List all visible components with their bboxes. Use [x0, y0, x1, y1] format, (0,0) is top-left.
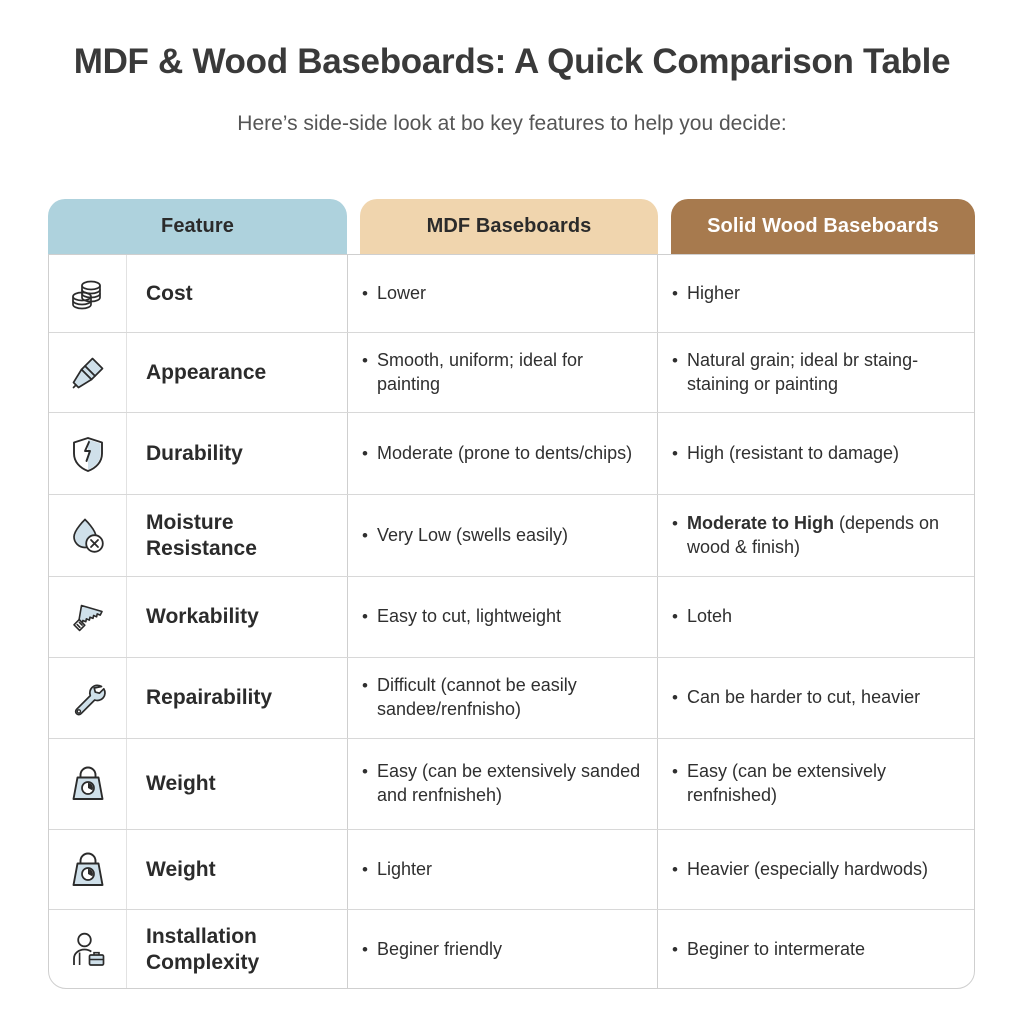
feature-name-cell: Cost — [127, 255, 348, 332]
bullet-item: • High (resistant to damage) — [672, 442, 899, 466]
bullet-item: • Can be harder to cut, heavier — [672, 686, 920, 710]
mdf-value-cell: • Lower — [348, 255, 658, 332]
bullet-glyph: • — [672, 349, 678, 372]
bullet-glyph: • — [362, 349, 368, 372]
wood-value-cell: • Higher — [658, 255, 974, 332]
bullet-item: • Heavier (especially hardwods) — [672, 858, 928, 882]
wood-value-cell: • Loteh — [658, 577, 974, 657]
bullet-text: Smooth, uniform; ideal for painting — [377, 349, 643, 397]
feature-label: Weight — [146, 771, 216, 797]
shield-crack-icon — [68, 434, 108, 474]
bullet-item: • Loteh — [672, 605, 732, 629]
bullet-glyph: • — [362, 282, 368, 305]
row-icon-cell — [49, 577, 127, 657]
bullet-text: Loteh — [687, 605, 732, 629]
table-row: Weight • Easy (can be extensively sanded… — [49, 739, 974, 830]
weight-gauge-icon — [68, 764, 108, 804]
bullet-text: Easy to cut, lightweight — [377, 605, 561, 629]
column-header-mdf-label: MDF Baseboards — [427, 215, 592, 238]
mdf-value-cell: • Lighter — [348, 830, 658, 909]
mdf-value-cell: • Very Low (swells easily) — [348, 495, 658, 576]
bullet-glyph: • — [362, 938, 368, 961]
feature-name-cell: Moisture Resistance — [127, 495, 348, 576]
bullet-text: Very Low (swells easily) — [377, 524, 568, 548]
bullet-glyph: • — [672, 512, 678, 535]
bullet-item: • Difficult (cannot be easily sandeɐ/ren… — [362, 674, 643, 722]
table-row: Workability • Easy to cut, lightweight •… — [49, 577, 974, 658]
bullet-text: Higher — [687, 282, 740, 306]
feature-name-cell: Installation Complexity — [127, 910, 348, 989]
bullet-item: • Lower — [362, 282, 426, 306]
column-header-feature-label: Feature — [161, 215, 234, 238]
bullet-glyph: • — [672, 760, 678, 783]
feature-label: Cost — [146, 281, 193, 307]
bullet-text: Easy (can be extensively sanded and renf… — [377, 760, 643, 808]
bullet-glyph: • — [672, 282, 678, 305]
row-icon-cell — [49, 495, 127, 576]
bullet-item: • Easy to cut, lightweight — [362, 605, 561, 629]
bullet-item: • Beginer to intermerate — [672, 938, 865, 962]
bullet-text: Moderate (prone to dents/chips) — [377, 442, 632, 466]
row-icon-cell — [49, 658, 127, 738]
bullet-glyph: • — [362, 524, 368, 547]
bullet-glyph: • — [362, 760, 368, 783]
feature-label: Repairability — [146, 685, 272, 711]
table-body: Cost • Lower • Higher — [48, 254, 975, 989]
page-title: MDF & Wood Baseboards: A Quick Compariso… — [0, 42, 1024, 82]
feature-label: Appearance — [146, 360, 266, 386]
bullet-text: High (resistant to damage) — [687, 442, 899, 466]
feature-name-cell: Durability — [127, 413, 348, 494]
bullet-text: Heavier (especially hardwods) — [687, 858, 928, 882]
bullet-item: • Higher — [672, 282, 740, 306]
feature-name-cell: Appearance — [127, 333, 348, 412]
wood-value-cell: • Easy (can be extensively renfnished) — [658, 739, 974, 829]
wrench-icon — [68, 678, 108, 718]
mdf-value-cell: • Easy to cut, lightweight — [348, 577, 658, 657]
row-icon-cell — [49, 413, 127, 494]
feature-name-cell: Weight — [127, 830, 348, 909]
bullet-item: • Easy (can be extensively renfnished) — [672, 760, 960, 808]
feature-name-cell: Repairability — [127, 658, 348, 738]
comparison-table-page: MDF & Wood Baseboards: A Quick Compariso… — [0, 0, 1024, 1024]
bullet-text-emphasis: Moderate to High — [687, 513, 834, 533]
bullet-glyph: • — [362, 858, 368, 881]
bullet-glyph: • — [672, 686, 678, 709]
bullet-glyph: • — [672, 442, 678, 465]
wood-value-cell: • Can be harder to cut, heavier — [658, 658, 974, 738]
bullet-item: • Moderate to High (depends on wood & fi… — [672, 512, 960, 560]
bullet-text: Natural grain; ideal br staing- staining… — [687, 349, 960, 397]
table-row: Appearance • Smooth, uniform; ideal for … — [49, 333, 974, 413]
row-icon-cell — [49, 333, 127, 412]
bullet-glyph: • — [362, 605, 368, 628]
bullet-item: • Natural grain; ideal br staing- staini… — [672, 349, 960, 397]
mdf-value-cell: • Moderate (prone to dents/chips) — [348, 413, 658, 494]
feature-label: Moisture Resistance — [146, 510, 339, 561]
water-drop-no-icon — [68, 516, 108, 556]
bullet-text: Difficult (cannot be easily sandeɐ/renfn… — [377, 674, 643, 722]
column-header-wood-label: Solid Wood Baseboards — [707, 215, 939, 238]
feature-label: Workability — [146, 604, 259, 630]
wood-value-cell: • Natural grain; ideal br staing- staini… — [658, 333, 974, 412]
wood-value-cell: • High (resistant to damage) — [658, 413, 974, 494]
bullet-text: Easy (can be extensively renfnished) — [687, 760, 960, 808]
column-header-mdf: MDF Baseboards — [360, 199, 658, 254]
bullet-text: Moderate to High (depends on wood & fini… — [687, 512, 960, 560]
bullet-glyph: • — [672, 938, 678, 961]
table-row: Moisture Resistance • Very Low (swells e… — [49, 495, 974, 577]
installer-person-icon — [68, 930, 108, 970]
bullet-item: • Easy (can be extensively sanded and re… — [362, 760, 643, 808]
table-row: Weight • Lighter • Heavier (especially h… — [49, 830, 974, 910]
bullet-glyph: • — [362, 674, 368, 697]
row-icon-cell — [49, 739, 127, 829]
row-icon-cell — [49, 910, 127, 989]
table-row: Installation Complexity • Beginer friend… — [49, 910, 974, 989]
wood-value-cell: • Moderate to High (depends on wood & fi… — [658, 495, 974, 576]
bullet-text: Lighter — [377, 858, 432, 882]
bullet-text: Beginer friendly — [377, 938, 502, 962]
weight-gauge-icon — [68, 850, 108, 890]
bullet-glyph: • — [362, 442, 368, 465]
coins-icon — [68, 274, 108, 314]
page-subtitle: Here’s side-side look at bo key features… — [0, 112, 1024, 136]
feature-name-cell: Workability — [127, 577, 348, 657]
comparison-table: Feature MDF Baseboards Solid Wood Basebo… — [48, 199, 975, 989]
wood-value-cell: • Beginer to intermerate — [658, 910, 974, 989]
mdf-value-cell: • Smooth, uniform; ideal for painting — [348, 333, 658, 412]
table-row: Repairability • Difficult (cannot be eas… — [49, 658, 974, 739]
bullet-item: • Moderate (prone to dents/chips) — [362, 442, 632, 466]
mdf-value-cell: • Easy (can be extensively sanded and re… — [348, 739, 658, 829]
bullet-text: Beginer to intermerate — [687, 938, 865, 962]
bullet-text: Can be harder to cut, heavier — [687, 686, 920, 710]
bullet-item: • Lighter — [362, 858, 432, 882]
mdf-value-cell: • Difficult (cannot be easily sandeɐ/ren… — [348, 658, 658, 738]
bullet-text: Lower — [377, 282, 426, 306]
column-header-feature: Feature — [48, 199, 347, 254]
row-icon-cell — [49, 830, 127, 909]
paintbrush-icon — [68, 353, 108, 393]
handsaw-icon — [68, 597, 108, 637]
bullet-glyph: • — [672, 605, 678, 628]
feature-name-cell: Weight — [127, 739, 348, 829]
table-row: Durability • Moderate (prone to dents/ch… — [49, 413, 974, 495]
bullet-item: • Smooth, uniform; ideal for painting — [362, 349, 643, 397]
row-icon-cell — [49, 255, 127, 332]
bullet-glyph: • — [672, 858, 678, 881]
bullet-item: • Very Low (swells easily) — [362, 524, 568, 548]
table-header-row: Feature MDF Baseboards Solid Wood Basebo… — [48, 199, 975, 254]
feature-label: Durability — [146, 441, 243, 467]
feature-label: Weight — [146, 857, 216, 883]
feature-label: Installation Complexity — [146, 924, 339, 975]
table-row: Cost • Lower • Higher — [49, 255, 974, 333]
column-header-wood: Solid Wood Baseboards — [671, 199, 975, 254]
mdf-value-cell: • Beginer friendly — [348, 910, 658, 989]
wood-value-cell: • Heavier (especially hardwods) — [658, 830, 974, 909]
bullet-item: • Beginer friendly — [362, 938, 502, 962]
